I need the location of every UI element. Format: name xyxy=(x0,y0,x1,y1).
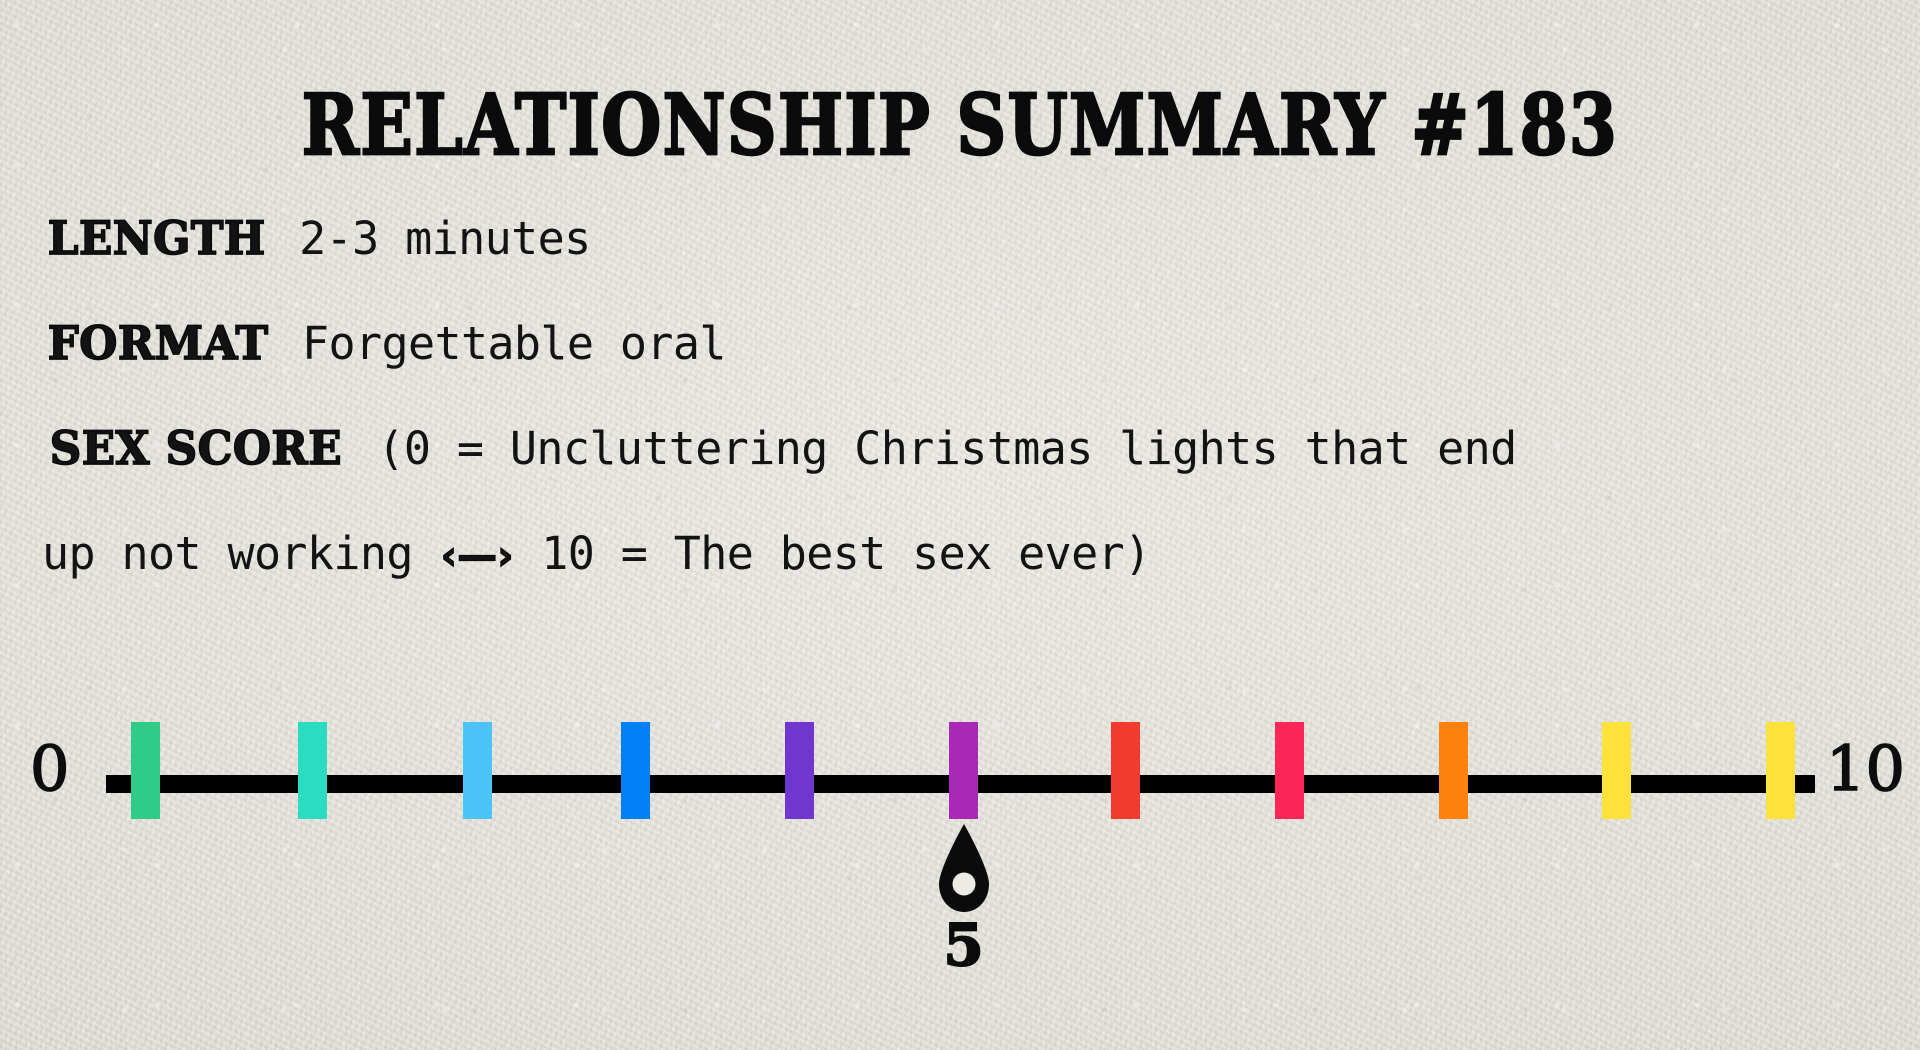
scale-tick xyxy=(1275,722,1304,819)
score-marker-value: 5 xyxy=(933,916,995,974)
field-row-length: LENGTH 2-3 minutes xyxy=(42,186,1902,291)
field-row-sex-score-line2: up not working ‹—› 10 = The best sex eve… xyxy=(42,501,1902,609)
scale-tick xyxy=(298,722,327,819)
field-label-format: FORMAT xyxy=(48,291,269,396)
scale-max-label: 10 xyxy=(1826,738,1905,800)
field-row-format: FORMAT Forgettable oral xyxy=(42,291,1902,396)
field-row-sex-score-line1: SEX SCORE (0 = Uncluttering Christmas li… xyxy=(42,396,1902,501)
scale-tick xyxy=(621,722,650,819)
teardrop-pin-icon xyxy=(934,822,994,914)
score-marker[interactable]: 5 xyxy=(933,822,995,974)
field-value-sex-score-line1: (0 = Uncluttering Christmas lights that … xyxy=(377,422,1516,475)
field-label-length: LENGTH xyxy=(48,186,266,291)
score-scale: 0 10 5 xyxy=(0,700,1920,1050)
field-label-sex-score: SEX SCORE xyxy=(50,396,342,501)
field-value-sex-score-line2-before: up not working xyxy=(42,527,413,580)
scale-tick xyxy=(1439,722,1468,819)
scale-tick xyxy=(949,722,978,819)
scale-min-label: 0 xyxy=(30,738,69,800)
scale-tick xyxy=(1602,722,1631,819)
left-right-arrow-icon: ‹—› xyxy=(441,533,514,579)
scale-tick xyxy=(463,722,492,819)
scale-tick xyxy=(1766,722,1795,819)
scale-tick xyxy=(131,722,160,819)
field-value-length: 2-3 minutes xyxy=(299,212,590,265)
scale-tick xyxy=(785,722,814,819)
scale-tick xyxy=(1111,722,1140,819)
summary-fields: LENGTH 2-3 minutes FORMAT Forgettable or… xyxy=(42,186,1902,609)
field-value-format: Forgettable oral xyxy=(302,317,726,370)
field-value-sex-score-line2-after: 10 = The best sex ever) xyxy=(541,527,1150,580)
page-title: RELATIONSHIP SUMMARY #183 xyxy=(67,78,1853,174)
